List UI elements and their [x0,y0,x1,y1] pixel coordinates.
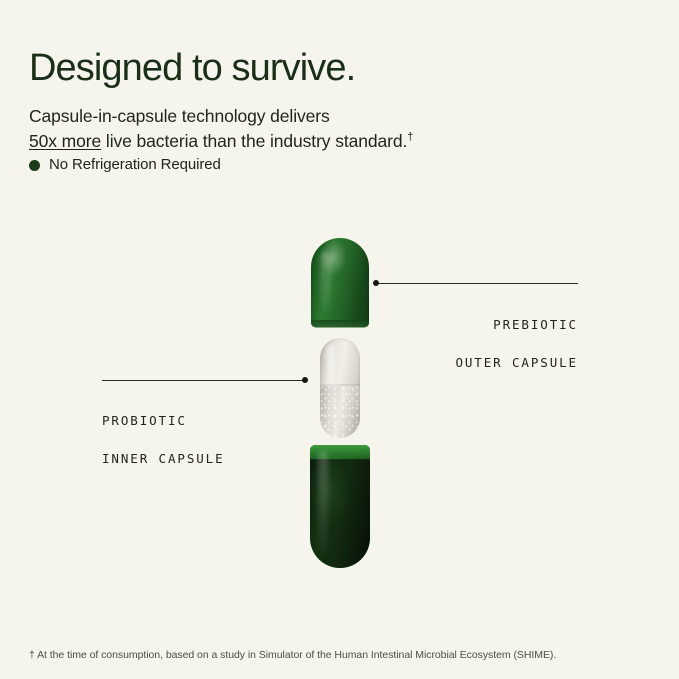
callout-probiotic: PROBIOTIC INNER CAPSULE [102,392,322,468]
feature-bullet: No Refrigeration Required [29,157,221,173]
outer-capsule-body-rim [310,445,370,460]
subheading: Capsule-in-capsule technology delivers 5… [29,104,413,154]
callout-prebiotic-line-2: OUTER CAPSULE [455,355,578,370]
prebiotic-outer-capsule-body [310,445,370,568]
prebiotic-outer-capsule-cap [311,238,369,327]
leader-dot-prebiotic [373,280,379,286]
outer-capsule-highlight [318,451,328,555]
subheading-emphasis: 50x more [29,131,101,151]
leader-dot-probiotic [302,377,308,383]
leader-line-prebiotic [378,283,578,284]
leader-line-probiotic [102,380,302,381]
outer-capsule-cap-rim [311,320,369,328]
footnote-marker: † [407,131,413,143]
subheading-line-1: Capsule-in-capsule technology delivers [29,106,330,126]
probiotic-inner-capsule [320,338,360,438]
inner-capsule-seam [320,384,360,387]
capsule-diagram: PREBIOTIC OUTER CAPSULE PROBIOTIC INNER … [0,0,679,679]
callout-probiotic-line-1: PROBIOTIC [102,413,187,428]
page-title: Designed to survive. [29,45,355,91]
footnote-text: † At the time of consumption, based on a… [29,648,556,662]
callout-prebiotic-line-1: PREBIOTIC [493,317,578,332]
inner-capsule-highlight [326,344,335,428]
outer-capsule-fill [310,459,370,568]
inner-capsule-powder-body [320,386,360,438]
callout-probiotic-line-2: INNER CAPSULE [102,451,225,466]
filled-dot-icon [29,160,40,171]
feature-bullet-label: No Refrigeration Required [49,157,221,173]
subheading-line-2: live bacteria than the industry standard… [101,131,407,151]
callout-prebiotic: PREBIOTIC OUTER CAPSULE [378,296,578,372]
product-infographic: Designed to survive. Capsule-in-capsule … [0,0,679,679]
